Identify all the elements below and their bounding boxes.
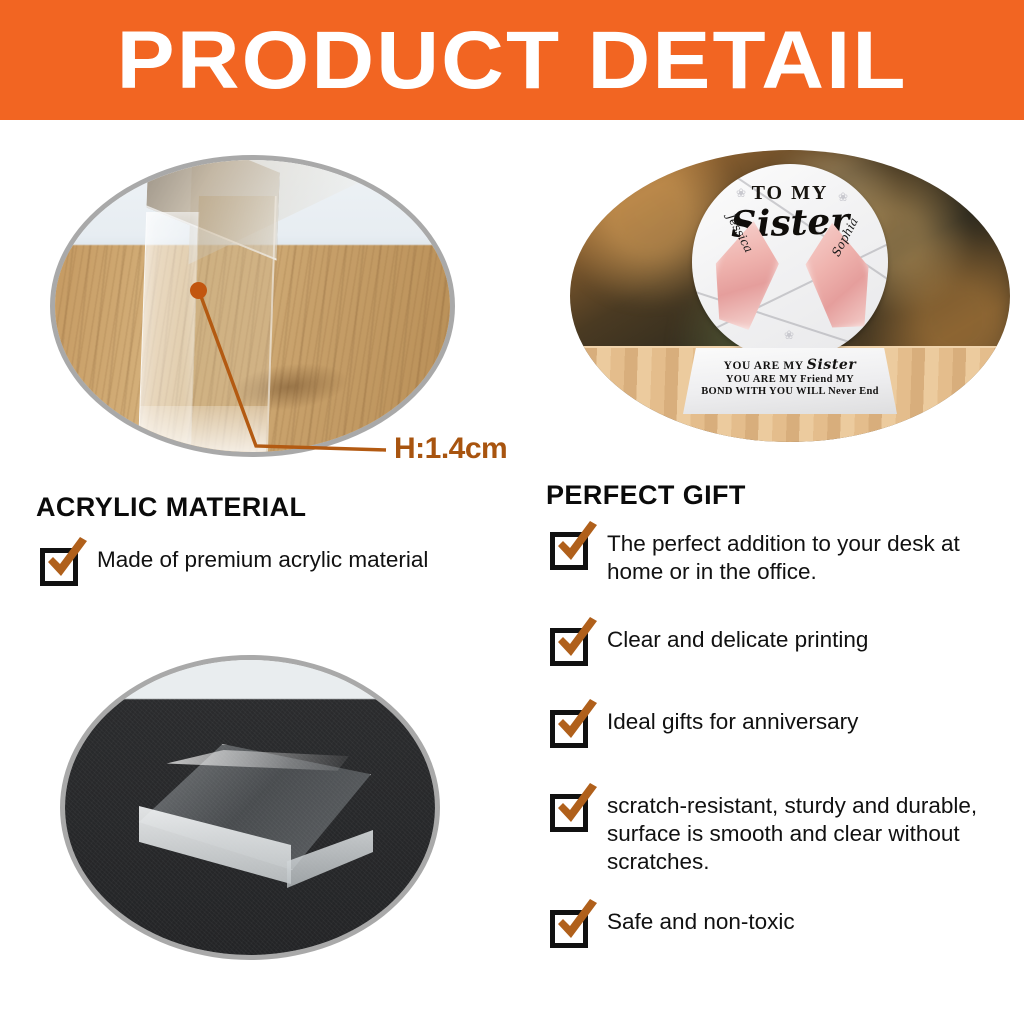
checkmark-icon	[550, 615, 604, 669]
checkbox-checked[interactable]	[40, 548, 78, 586]
header-banner: PRODUCT DETAIL	[0, 0, 1024, 120]
checkbox-checked[interactable]	[550, 710, 588, 748]
dimension-label-height: H:1.4cm	[394, 432, 507, 466]
checkbox-checked[interactable]	[550, 794, 588, 832]
feature-text: Made of premium acrylic material	[97, 546, 428, 574]
feature-item-right-2: Clear and delicate printing	[550, 626, 1010, 666]
checkbox-checked[interactable]	[550, 910, 588, 948]
checkmark-icon	[550, 781, 604, 835]
feature-item-right-1: The perfect addition to your desk at hom…	[550, 530, 1010, 586]
photo-acrylic-edge-oval	[50, 155, 455, 457]
base-text-line-3: BOND WITH YOU WILL Never End	[683, 386, 897, 397]
checkbox-checked[interactable]	[550, 532, 588, 570]
checkmark-icon	[550, 519, 604, 573]
section-heading-acrylic-material: ACRYLIC MATERIAL	[36, 492, 306, 523]
checkbox-checked[interactable]	[550, 628, 588, 666]
feature-text: Safe and non-toxic	[607, 908, 795, 936]
callout-dot	[190, 282, 207, 299]
base-text-line-1: YOU ARE MY Sister	[683, 357, 897, 373]
feature-item-right-4: scratch-resistant, sturdy and durable, s…	[550, 792, 1020, 876]
page-title: PRODUCT DETAIL	[116, 20, 907, 102]
section-heading-perfect-gift: PERFECT GIFT	[546, 480, 746, 511]
checkmark-icon	[550, 897, 604, 951]
feature-item-right-3: Ideal gifts for anniversary	[550, 708, 1010, 748]
feature-text: Clear and delicate printing	[607, 626, 868, 654]
base-text-line-2: YOU ARE MY Friend MY	[683, 374, 897, 385]
acrylic-square-block	[139, 744, 369, 912]
feature-text: The perfect addition to your desk at hom…	[607, 530, 1007, 586]
feature-item-left-1: Made of premium acrylic material	[40, 546, 510, 586]
plaque-disc: ❀ ❀ ❀ TO MY Sister Jessica Sophia	[692, 164, 888, 360]
feature-item-right-5: Safe and non-toxic	[550, 908, 1010, 948]
butterfly-icon: ❀	[784, 328, 794, 342]
photo-acrylic-block-oval	[60, 655, 440, 960]
checkmark-icon	[40, 535, 94, 589]
feature-text: scratch-resistant, sturdy and durable, s…	[607, 792, 992, 876]
photo-sister-plaque-oval: ❀ ❀ ❀ TO MY Sister Jessica Sophia YOU AR…	[570, 150, 1010, 442]
checkmark-icon	[550, 697, 604, 751]
acrylic-block-edge	[138, 156, 276, 456]
plaque-base: YOU ARE MY Sister YOU ARE MY Friend MY B…	[683, 348, 897, 414]
product-detail-infographic: PRODUCT DETAIL H:1.4cm ❀	[0, 0, 1024, 1024]
acrylic-foot	[138, 406, 268, 456]
acrylic-plaque: ❀ ❀ ❀ TO MY Sister Jessica Sophia YOU AR…	[683, 164, 897, 414]
feature-text: Ideal gifts for anniversary	[607, 708, 858, 736]
